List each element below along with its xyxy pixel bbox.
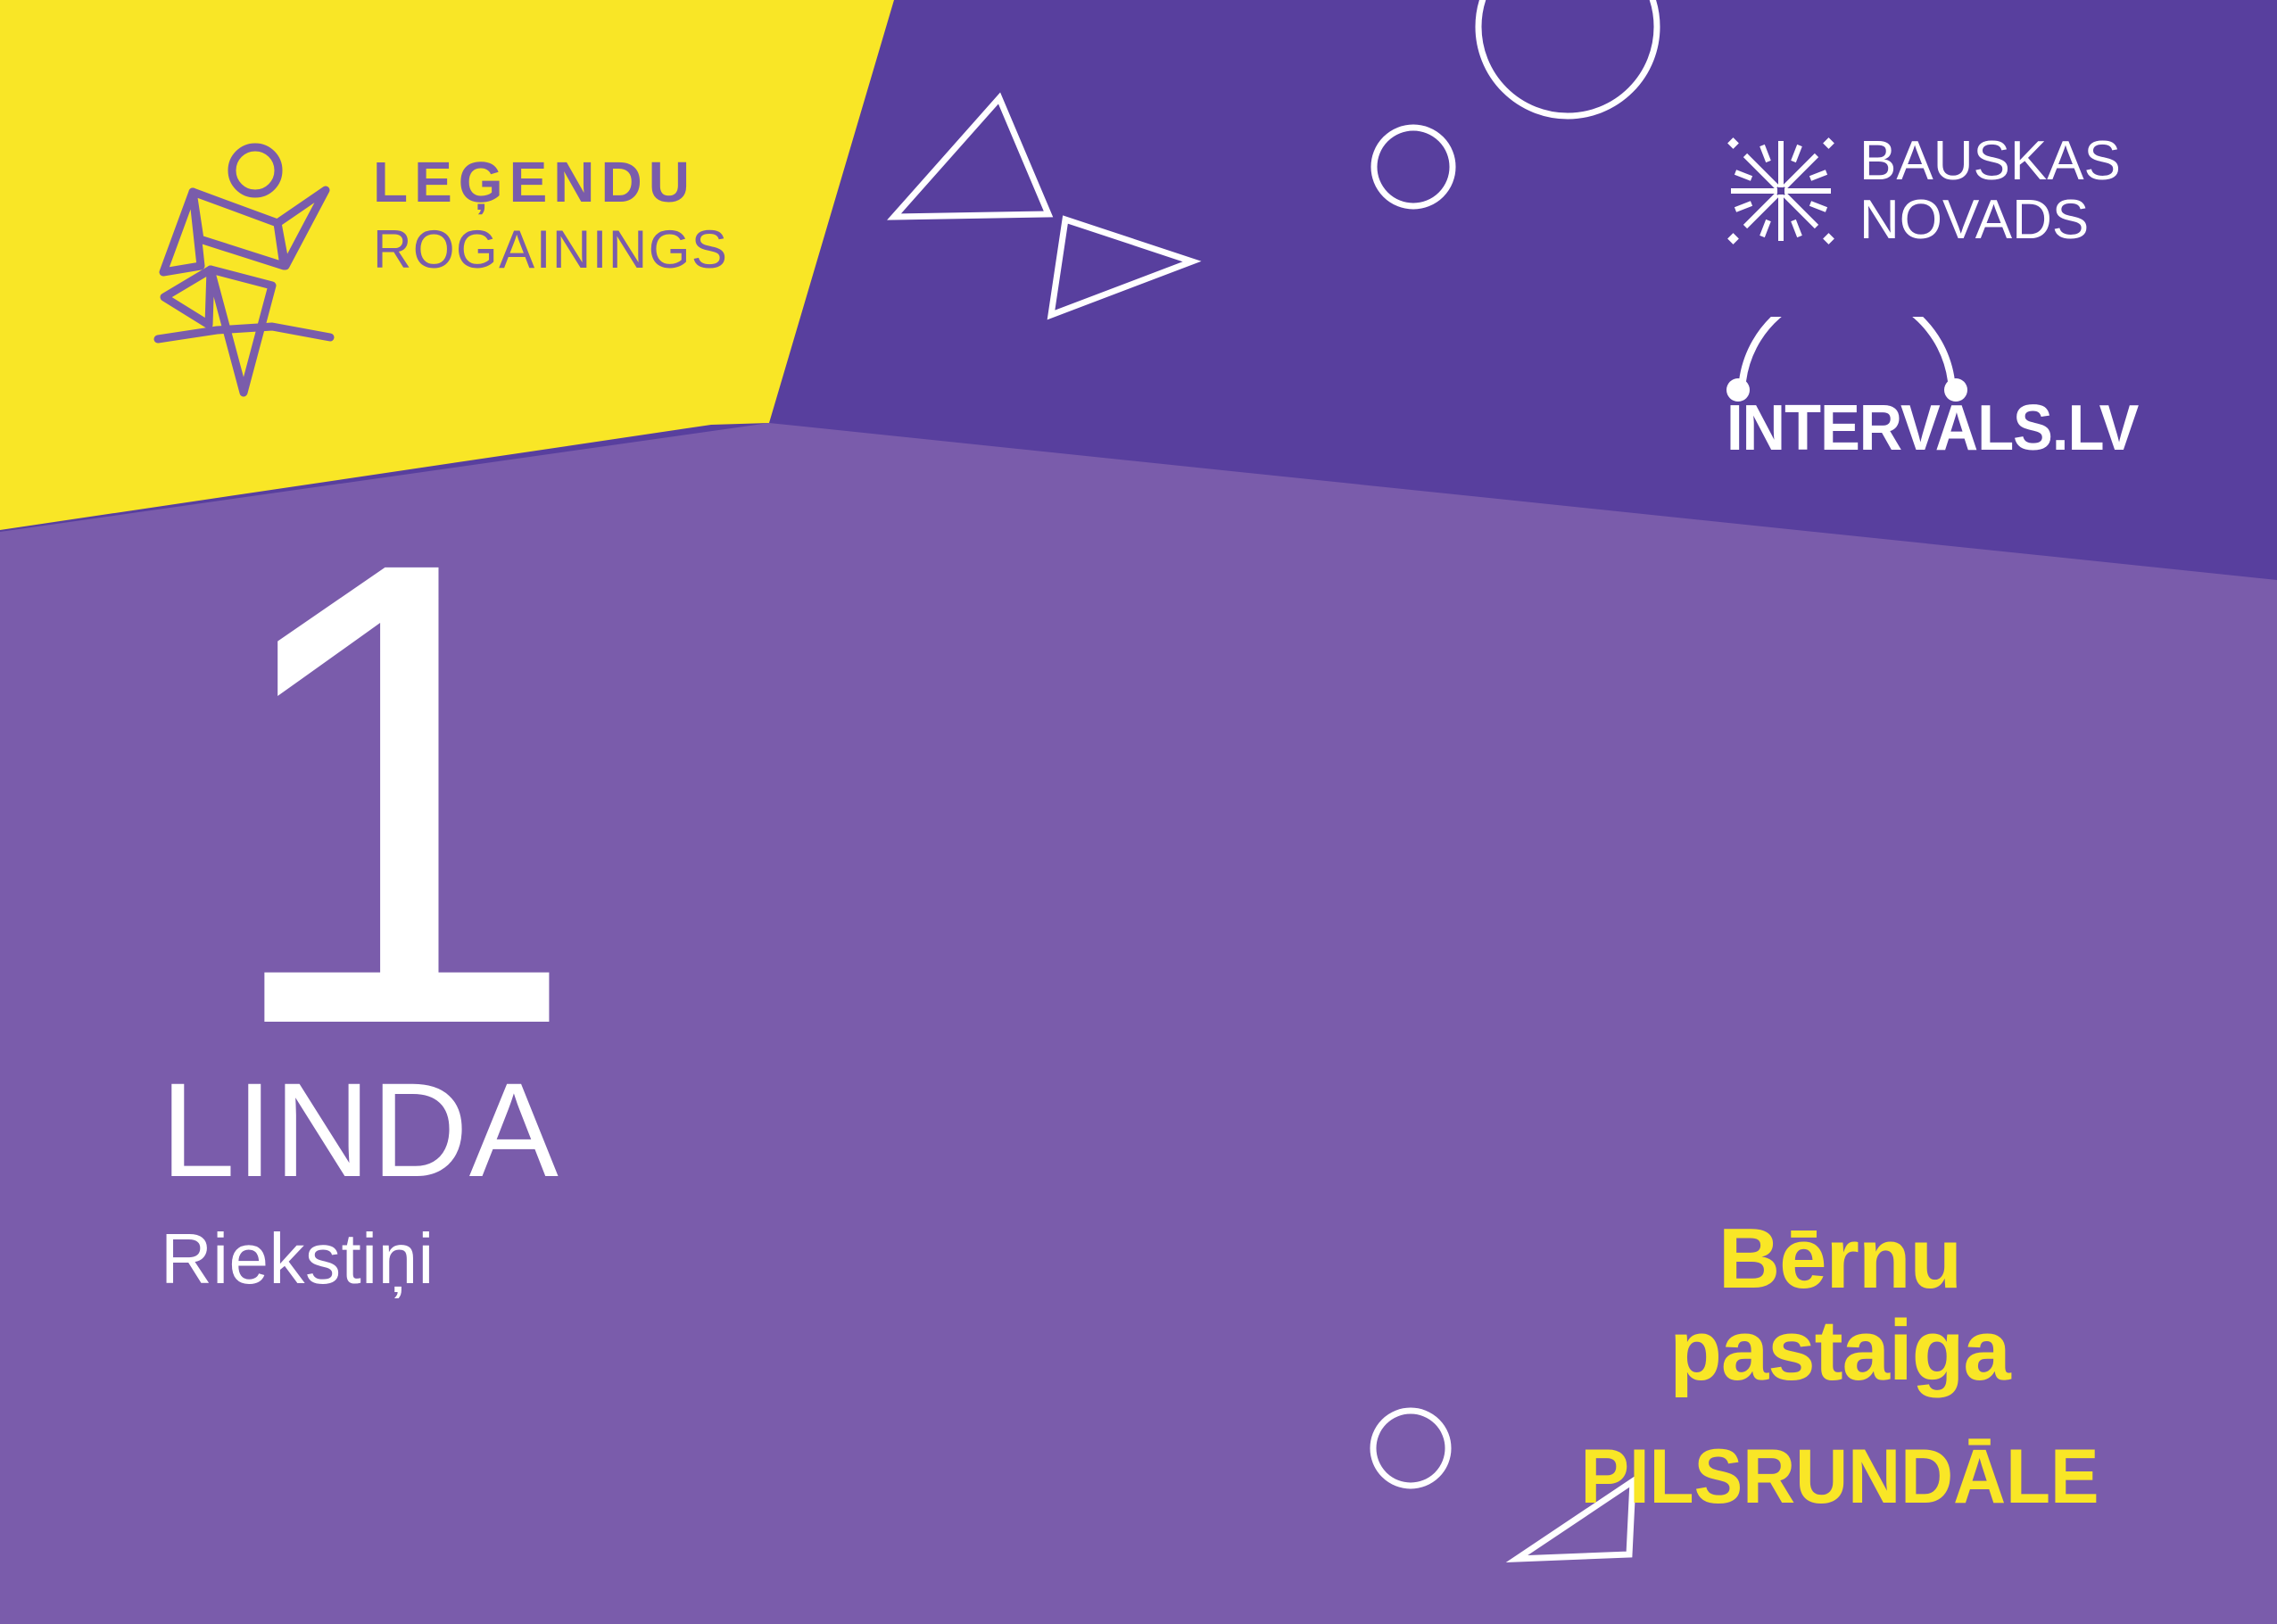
starburst-icon [1722,132,1840,250]
entrant-block: 1 LINDA Riekstiņi [161,535,839,1295]
partner-intervals-wordmark: INTERVALS.LV [1726,392,2138,465]
running-figure-icon [152,125,344,402]
partner-bauskas-line2: NOVADS [1859,191,2121,250]
partner-logo-bauskas-novads: BAUSKAS NOVADS [1722,132,2121,250]
category-block: Bērnu pastaiga PILSRUNDĀLE [1501,1213,2179,1521]
entrant-team-sub: Riekstiņi [161,1223,839,1295]
category-title-line2: pastaiga [1501,1305,2179,1397]
partner-bauskas-line1: BAUSKAS [1859,132,2121,191]
event-logo-wordmark: LEĢENDU ROGAININGS [373,153,748,278]
entrant-team-name: LINDA [161,1063,839,1197]
entrant-number: 1 [214,535,839,1050]
race-bib-poster: LEĢENDU ROGAININGS [0,0,2277,1624]
partner-bauskas-wordmark: BAUSKAS NOVADS [1859,132,2121,249]
event-logo-line2: ROGAININGS [373,221,748,278]
category-title-line1: Bērnu [1501,1213,2179,1305]
partner-logo-intervals-lv: INTERVALS.LV [1726,317,2190,486]
event-logo: LEĢENDU ROGAININGS [152,125,758,419]
event-logo-line1: LEĢENDU [373,153,748,211]
category-location: PILSRUNDĀLE [1518,1433,2162,1521]
